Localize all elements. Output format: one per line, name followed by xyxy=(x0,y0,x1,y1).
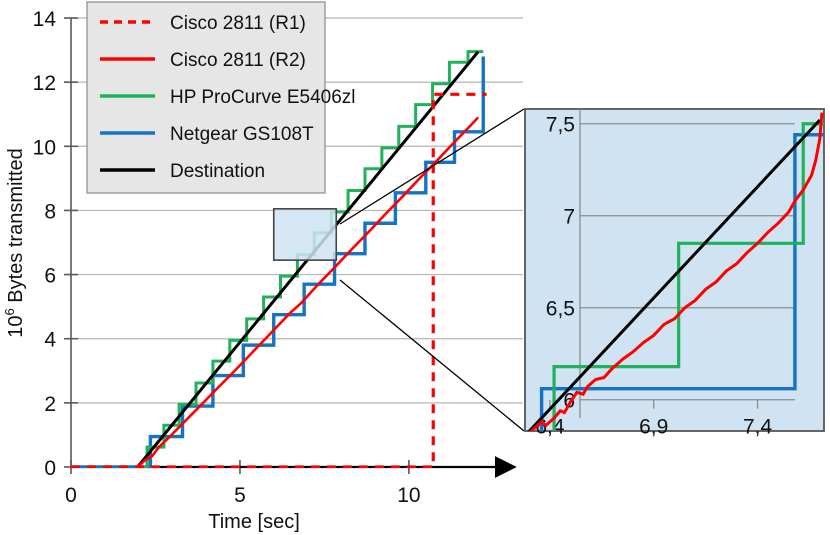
y-tick-label: 0 xyxy=(44,457,56,480)
x-axis-title: Time [sec] xyxy=(208,511,300,533)
legend-label: Cisco 2811 (R2) xyxy=(170,50,306,71)
legend-label: Cisco 2811 (R1) xyxy=(170,13,306,34)
y-tick-label: 8 xyxy=(44,200,56,223)
y-axis-title-rest: Bytes transmitted xyxy=(5,148,27,308)
inset-y-tick-label: 6,5 xyxy=(546,298,575,321)
y-tick-label: 2 xyxy=(44,393,56,416)
inset-panel: 66,577,5 6,46,97,4 xyxy=(521,109,828,440)
inset-y-tick-label: 7,5 xyxy=(546,114,575,137)
legend-label: Netgear GS108T xyxy=(170,124,314,145)
zoom-region-box xyxy=(274,209,337,260)
inset-y-tick-label: 7 xyxy=(563,206,575,229)
legend-label: HP ProCurve E5406zl xyxy=(170,87,356,108)
svg-text:106 Bytes transmitted: 106 Bytes transmitted xyxy=(2,148,27,338)
y-tick-label: 12 xyxy=(33,72,56,95)
y-axis-title: 106 Bytes transmitted xyxy=(2,148,27,338)
inset-x-tick-label: 7,4 xyxy=(743,416,773,439)
x-tick-label: 0 xyxy=(65,484,77,507)
y-tick-label: 6 xyxy=(44,265,56,288)
chart-root: 02468101214 0510 Time [sec] 106 Bytes tr… xyxy=(0,0,830,535)
y-tick-label: 4 xyxy=(44,329,56,352)
x-tick-label: 10 xyxy=(397,484,420,507)
zoom-connector-top xyxy=(340,109,524,224)
y-axis-title-base: 10 xyxy=(5,316,27,338)
y-tick-label: 10 xyxy=(33,136,56,159)
inset-x-tick-label: 6,9 xyxy=(639,416,668,439)
y-axis-tick-labels: 02468101214 xyxy=(33,8,57,480)
inset-background xyxy=(525,109,824,431)
legend: Cisco 2811 (R1)Cisco 2811 (R2)HP ProCurv… xyxy=(87,2,356,193)
y-axis-title-exponent: 6 xyxy=(2,308,17,315)
x-axis-tick-labels: 0510 xyxy=(65,484,420,507)
legend-label: Destination xyxy=(170,161,265,182)
x-tick-label: 5 xyxy=(234,484,246,507)
chart-figure: 02468101214 0510 Time [sec] 106 Bytes tr… xyxy=(0,0,830,535)
y-tick-label: 14 xyxy=(33,8,57,31)
